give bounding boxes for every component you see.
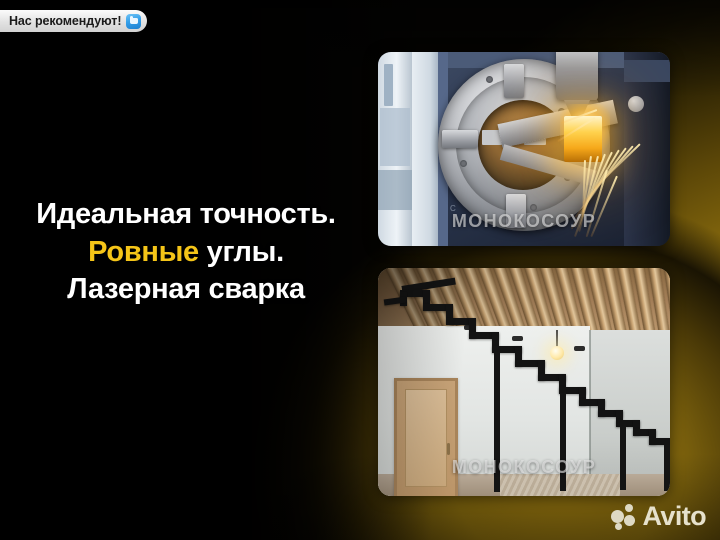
avito-wordmark: Avito [643, 503, 707, 530]
headline-line-2-rest: углы. [199, 236, 284, 268]
ad-canvas: Нас рекомендуют! Идеальная точность. Ров… [0, 0, 720, 540]
recommendation-badge-icon [126, 14, 141, 29]
avito-logo-icon [611, 504, 637, 530]
metal-stair-stringer [378, 268, 670, 496]
headline-block: Идеальная точность. Ровные углы. Лазерна… [0, 196, 372, 309]
laser-welding-machine-image: C [378, 52, 670, 246]
headline-accent-word: Ровные [88, 236, 199, 268]
recommended-badge-label: Нас рекомендуют! [9, 14, 121, 28]
headline-line-3: Лазерная сварка [0, 271, 372, 309]
metal-staircase-photo[interactable]: МОНОКОСОУР [378, 268, 670, 496]
metal-staircase-image [378, 268, 670, 496]
recommended-badge: Нас рекомендуют! [0, 10, 147, 32]
avito-logo: Avito [611, 503, 707, 530]
headline-line-1: Идеальная точность. [0, 196, 372, 234]
laser-welding-machine-photo[interactable]: C МОНОКОСОУР [378, 52, 670, 246]
headline-line-2: Ровные углы. [0, 234, 372, 272]
